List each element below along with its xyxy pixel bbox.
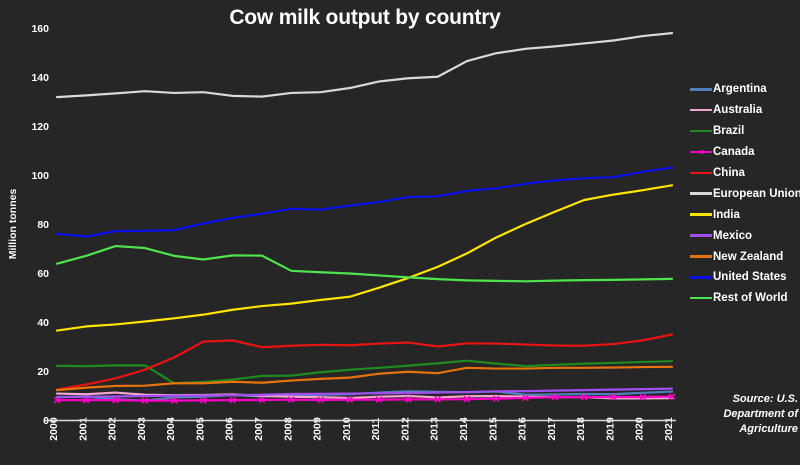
- legend-swatch-icon: [690, 209, 712, 220]
- series-line-china: [57, 335, 672, 390]
- legend-item-label: Australia: [712, 104, 762, 116]
- legend-item-label: Mexico: [712, 230, 752, 242]
- legend-x-marker-icon: ×: [698, 148, 706, 156]
- series-line-european-union: [57, 33, 672, 97]
- y-tick-label: 160: [31, 23, 49, 35]
- legend-swatch-icon: [690, 188, 712, 199]
- y-axis-tick-labels: 020406080100120140160: [31, 23, 49, 427]
- source-note-line: Department of: [690, 407, 798, 422]
- legend-item-india[interactable]: India: [690, 204, 800, 225]
- y-tick-label: 40: [37, 317, 49, 329]
- chart-container: Cow milk output by country 0204060801001…: [0, 0, 800, 465]
- legend-swatch-icon: [690, 168, 712, 179]
- series-line-india: [57, 185, 672, 330]
- series-line-rest-of-world: [57, 246, 672, 281]
- legend-item-mexico[interactable]: Mexico: [690, 225, 800, 246]
- series-lines: [54, 33, 675, 403]
- legend-item-label: New Zealand: [712, 251, 783, 263]
- legend-item-european-union[interactable]: European Union: [690, 183, 800, 204]
- legend-swatch-icon: [690, 272, 712, 283]
- series-line-new-zealand: [57, 367, 672, 390]
- legend-item-label: Rest of World: [712, 292, 788, 304]
- legend-swatch-icon: [690, 105, 712, 116]
- legend-swatch-icon: [690, 293, 712, 304]
- legend-item-argentina[interactable]: Argentina: [690, 79, 800, 100]
- chart-legend: ArgentinaAustraliaBrazil×CanadaChinaEuro…: [690, 79, 800, 309]
- legend-swatch-icon: ×: [690, 147, 712, 158]
- y-tick-label: 80: [37, 219, 49, 231]
- chart-plot-svg: 020406080100120140160 200020012002200320…: [0, 0, 800, 465]
- source-note-line: Agriculture: [690, 422, 798, 437]
- source-note-line: Source: U.S.: [690, 392, 798, 407]
- legend-item-rest-of-world[interactable]: Rest of World: [690, 288, 800, 309]
- legend-item-new-zealand[interactable]: New Zealand: [690, 246, 800, 267]
- legend-item-label: United States: [712, 271, 787, 283]
- y-tick-label: 120: [31, 121, 49, 133]
- legend-item-australia[interactable]: Australia: [690, 100, 800, 121]
- legend-item-label: European Union: [712, 188, 800, 200]
- legend-item-label: Argentina: [712, 83, 767, 95]
- y-axis-title: Million tonnes: [7, 189, 19, 260]
- legend-swatch-icon: [690, 126, 712, 137]
- legend-item-label: China: [712, 167, 745, 179]
- y-tick-label: 100: [31, 170, 49, 182]
- legend-item-united-states[interactable]: United States: [690, 267, 800, 288]
- legend-item-label: India: [712, 209, 740, 221]
- source-note: Source: U.S.Department ofAgriculture: [690, 392, 798, 437]
- series-line-brazil: [57, 361, 672, 384]
- legend-item-brazil[interactable]: Brazil: [690, 121, 800, 142]
- legend-item-canada[interactable]: ×Canada: [690, 142, 800, 163]
- legend-swatch-icon: [690, 230, 712, 241]
- series-line-mexico: [57, 389, 672, 398]
- legend-item-label: Canada: [712, 146, 755, 158]
- legend-item-china[interactable]: China: [690, 163, 800, 184]
- y-tick-label: 140: [31, 72, 49, 84]
- legend-swatch-icon: [690, 84, 712, 95]
- legend-item-label: Brazil: [712, 125, 744, 137]
- y-tick-label: 20: [37, 366, 49, 378]
- y-tick-label: 60: [37, 268, 49, 280]
- legend-swatch-icon: [690, 251, 712, 262]
